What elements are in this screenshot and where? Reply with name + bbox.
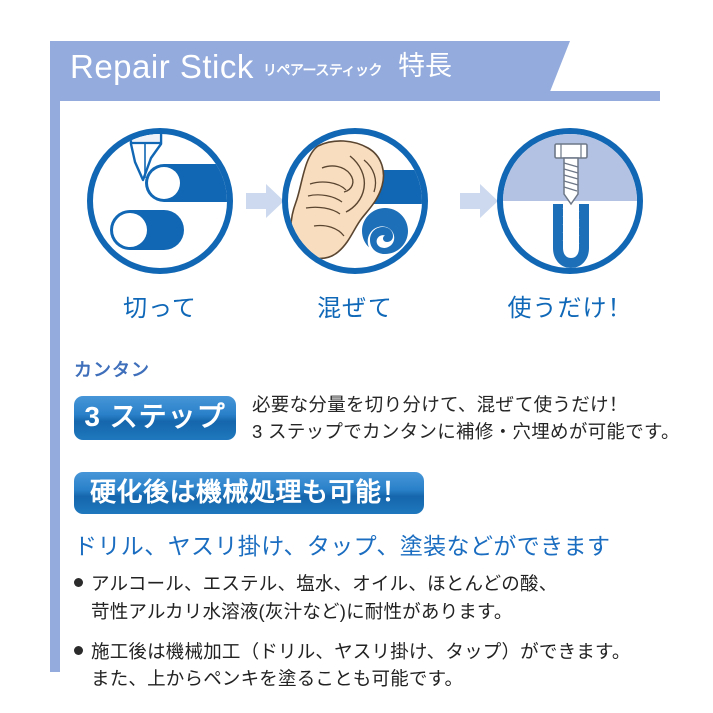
left-accent-strip <box>50 91 60 672</box>
section-heading-features: 特長 <box>398 53 452 80</box>
infographic-page: Repair Stick リペアースティック 特長 切って <box>0 0 713 713</box>
step-1-label: 切って <box>80 288 240 323</box>
bullet-dot-icon <box>74 578 83 587</box>
three-step-badge: 3 ステップ <box>74 396 236 440</box>
bullet-1-line-2: 苛性アルカリ水溶液(灰汁など)に耐性があります。 <box>91 598 674 626</box>
header-underbar <box>50 91 660 101</box>
step-3-label: 使うだけ！ <box>490 288 650 323</box>
feature-bullet-list: アルコール、エステル、塩水、オイル、ほとんどの酸、 苛性アルカリ水溶液(灰汁など… <box>74 570 674 705</box>
cut-piece-cap-icon <box>113 213 147 247</box>
hardened-machining-badge: 硬化後は機械処理も可能！ <box>74 472 424 514</box>
step-1-illustration <box>87 128 233 274</box>
step-2-illustration <box>282 128 428 274</box>
step-description: 必要な分量を切り分けて、混ぜて使うだけ！ 3 ステップでカンタンに補修・穴埋めが… <box>252 392 680 446</box>
steps-row: 切って <box>72 128 672 328</box>
kantan-label: カンタン <box>74 356 150 382</box>
step-3-illustration <box>497 128 643 274</box>
list-item: 施工後は機械加工（ドリル、ヤスリ掛け、タップ）ができます。 また、上からペンキを… <box>74 638 674 694</box>
bullet-2-line-1: 施工後は機械加工（ドリル、ヤスリ掛け、タップ）ができます。 <box>91 641 631 662</box>
step-description-line-2: 3 ステップでカンタンに補修・穴埋めが可能です。 <box>252 421 680 442</box>
knife-icon <box>121 128 173 200</box>
step-1: 切って <box>80 128 240 323</box>
step-description-line-1: 必要な分量を切り分けて、混ぜて使うだけ！ <box>252 394 628 415</box>
screw-icon <box>547 142 595 210</box>
bullet-dot-icon <box>74 646 83 655</box>
mixing-swirl-icon <box>362 208 408 254</box>
page-title: Repair Stick リペアースティック 特長 <box>70 41 452 91</box>
bullet-1-line-1: アルコール、エステル、塩水、オイル、ほとんどの酸、 <box>91 573 557 594</box>
product-name-en: Repair Stick <box>70 50 254 83</box>
threaded-hole-icon <box>549 204 593 270</box>
step-2-label: 混ぜて <box>275 288 435 323</box>
step-3: 使うだけ！ <box>490 128 650 323</box>
machining-headline: ドリル、ヤスリ掛け、タップ、塗装などができます <box>74 527 610 561</box>
step-2: 混ぜて <box>275 128 435 323</box>
bullet-2-line-2: また、上からペンキを塗ることも可能です。 <box>91 665 674 693</box>
product-name-kana: リペアースティック <box>263 63 382 77</box>
list-item: アルコール、エステル、塩水、オイル、ほとんどの酸、 苛性アルカリ水溶液(灰汁など… <box>74 570 674 626</box>
